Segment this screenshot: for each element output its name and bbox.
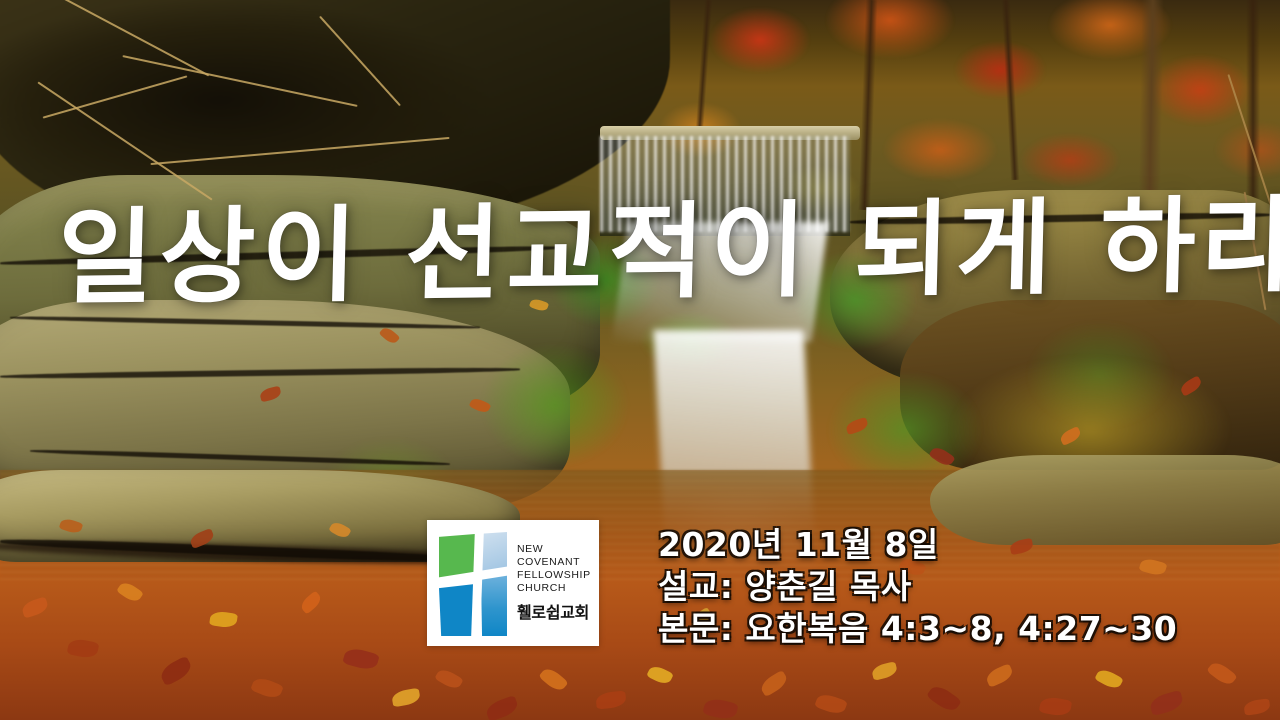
service-date: 2020년 11월 8일 — [658, 524, 1177, 565]
logo-line-covenant: COVENANT — [517, 556, 591, 569]
church-logo: NEW COVENANT FELLOWSHIP CHURCH 휄로쉽교회 — [427, 520, 599, 646]
scripture-line: 본문: 요한복음 4:3~8, 4:27~30 — [658, 608, 1177, 649]
logo-line-church: CHURCH — [517, 582, 591, 595]
sermon-title-slide: 일상이 선교적이 되게 하라 NEW COVENANT FELLOWSHIP C… — [0, 0, 1280, 720]
logo-panel-blue — [439, 584, 475, 636]
logo-panel-light-blue — [481, 532, 507, 572]
logo-line-fellowship: FELLOWSHIP — [517, 569, 591, 582]
logo-line-new: NEW — [517, 543, 591, 556]
sermon-title: 일상이 선교적이 되게 하라 — [56, 190, 1259, 315]
logo-name-korean: 휄로쉽교회 — [517, 599, 591, 623]
church-logo-text: NEW COVENANT FELLOWSHIP CHURCH 휄로쉽교회 — [517, 543, 591, 623]
cross-logo-icon — [437, 528, 509, 638]
preacher-line: 설교: 양춘길 목사 — [658, 566, 1177, 607]
logo-panel-gradient-blue — [481, 574, 507, 636]
service-info: 2020년 11월 8일 설교: 양춘길 목사 본문: 요한복음 4:3~8, … — [658, 524, 1177, 650]
